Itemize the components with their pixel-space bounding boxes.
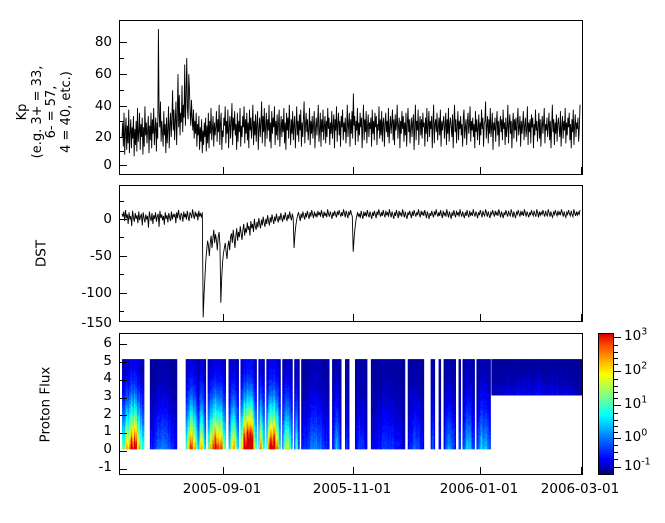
kp-ytick-label-20: 20 [76, 131, 112, 145]
flux-ytick-label-m1: -1 [76, 461, 112, 475]
flux-ytick-label-1: 1 [76, 425, 112, 439]
flux-ytick-label-3: 3 [76, 390, 112, 404]
flux-xtick-2 [353, 467, 354, 474]
colorbar-gradient [598, 333, 614, 475]
xtick-label-2: 2005-11-01 [292, 482, 412, 496]
colorbar-tick-1 [614, 438, 621, 439]
colorbar-label-100-mantissa: 10 [624, 362, 641, 378]
flux-xtick-3 [480, 467, 481, 474]
kp-trace [120, 21, 582, 174]
kp-axis-title-line4: 4 = 40, etc.) [60, 37, 75, 187]
colorbar-tick-minor-1 [614, 345, 618, 346]
flux-ytick-6 [120, 344, 127, 345]
kp-ytick-label-0: 0 [76, 159, 112, 173]
dst-axis-title: DST [35, 224, 50, 284]
flux-panel [119, 333, 583, 475]
kp-axis-title-line2: (e.g. 3+ = 33, [31, 37, 46, 187]
colorbar-label-0p1-exponent: -1 [641, 457, 650, 468]
kp-axis-title: Kp (e.g. 3+ = 33, 6- = 57, 4 = 40, etc.) [16, 37, 74, 187]
colorbar-label-1-exponent: 0 [641, 428, 647, 439]
dst-ytick-label-0: 0 [62, 213, 112, 227]
flux-ytick-label-4: 4 [76, 372, 112, 386]
colorbar-tick-1000 [614, 337, 621, 338]
flux-ytick-3 [120, 398, 127, 399]
kp-ytick-label-40: 40 [76, 100, 112, 114]
dst-ytick-label-50: -50 [62, 250, 112, 264]
colorbar-tick-minor-5 [614, 379, 618, 380]
colorbar-label-1: 100 [624, 430, 647, 444]
flux-ytick-label-0: 0 [76, 443, 112, 457]
colorbar-tick-minor-3 [614, 358, 618, 359]
flux-ytick-4 [120, 380, 127, 381]
flux-axis-title: Proton Flux [39, 355, 54, 455]
flux-ytick-1 [120, 433, 127, 434]
flux-ytick-label-5: 5 [76, 355, 112, 369]
colorbar-tick-minor-14 [614, 452, 618, 453]
colorbar-label-10-mantissa: 10 [624, 396, 641, 412]
xtick-label-1: 2005-09-01 [162, 482, 282, 496]
dst-trace [120, 186, 582, 321]
colorbar-label-1000-mantissa: 10 [624, 328, 641, 344]
colorbar-label-1000: 103 [624, 329, 647, 343]
kp-ytick-label-60: 60 [76, 68, 112, 82]
flux-ytick-0 [120, 451, 127, 452]
flux-xtick-4 [581, 467, 582, 474]
dst-panel [119, 185, 583, 322]
colorbar-tick-10 [614, 405, 621, 406]
colorbar-tick-100 [614, 371, 621, 372]
flux-spectrogram [120, 334, 582, 474]
colorbar-label-10-exponent: 1 [641, 395, 647, 406]
colorbar-tick-minor-13 [614, 445, 618, 446]
kp-axis-title-line3: 6- = 57, [45, 37, 60, 187]
colorbar-tick-minor-9 [614, 413, 618, 414]
dst-ytick-label-100: -100 [62, 287, 112, 301]
colorbar-tick-minor-10 [614, 420, 618, 421]
colorbar-tick-minor-2 [614, 352, 618, 353]
flux-ytick-5 [120, 362, 127, 363]
kp-ytick-label-80: 80 [76, 36, 112, 50]
flux-ytick-2 [120, 415, 127, 416]
colorbar: 103 102 101 100 10-1 [598, 333, 614, 475]
colorbar-tick-minor-7 [614, 392, 618, 393]
figure-canvas: Kp (e.g. 3+ = 33, 6- = 57, 4 = 40, etc.)… [0, 0, 665, 523]
colorbar-tick-minor-4 [614, 364, 618, 365]
flux-xtick-1 [223, 467, 224, 474]
colorbar-label-0p1-mantissa: 10 [624, 458, 641, 474]
colorbar-label-100: 102 [624, 363, 647, 377]
flux-ytick-m1 [120, 469, 127, 470]
colorbar-label-0p1: 10-1 [624, 459, 651, 473]
colorbar-label-1000-exponent: 3 [641, 327, 647, 338]
xtick-label-4: 2006-03-01 [520, 482, 640, 496]
colorbar-label-100-exponent: 2 [641, 361, 647, 372]
colorbar-tick-0p1 [614, 467, 621, 468]
colorbar-tick-minor-11 [614, 426, 618, 427]
colorbar-tick-minor-8 [614, 398, 618, 399]
colorbar-tick-minor-12 [614, 432, 618, 433]
colorbar-tick-minor-15 [614, 459, 618, 460]
flux-ytick-label-6: 6 [76, 337, 112, 351]
flux-ytick-label-2: 2 [76, 408, 112, 422]
dst-ytick-label-150: -150 [62, 317, 112, 331]
colorbar-label-1-mantissa: 10 [624, 429, 641, 445]
kp-axis-title-line1: Kp [16, 37, 31, 187]
colorbar-tick-minor-6 [614, 386, 618, 387]
kp-panel [119, 20, 583, 175]
colorbar-label-10: 101 [624, 397, 647, 411]
